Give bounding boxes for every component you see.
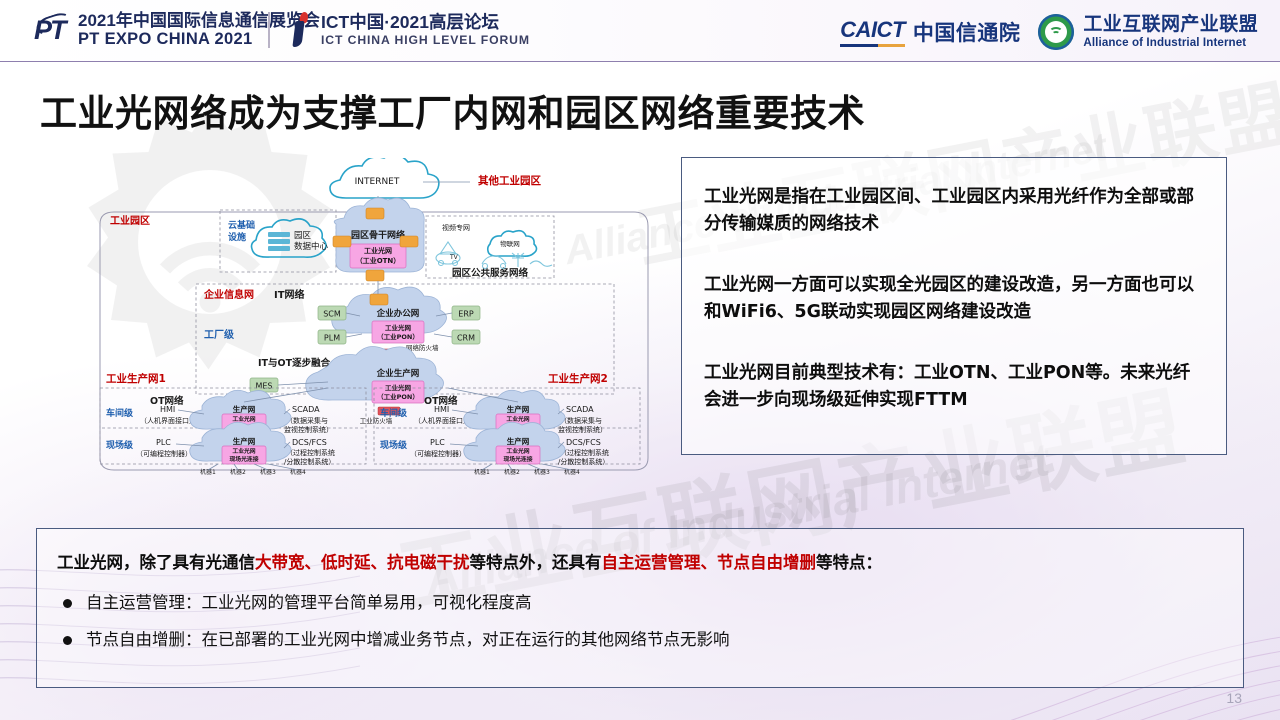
expo-title-cn: 2021年中国国际信息通信展览会 [78, 11, 320, 30]
svg-text:SCADA: SCADA [566, 405, 594, 414]
aii-logo-block: 工业互联网产业联盟 Alliance of Industrial Interne… [1036, 12, 1258, 52]
header-right-logos: CAICT 中国信通院 工业互联网产业联盟 Alliance of Indust… [840, 12, 1258, 52]
svg-text:SCM: SCM [323, 310, 341, 319]
enterprise-info-net-label: 企业信息网 [203, 288, 254, 301]
svg-text:HMI: HMI [160, 405, 175, 414]
industrial-optical-network-diagram: .cl { fill:#c3d3ec; stroke:#9db4d6; stro… [78, 158, 658, 480]
features-lead-line: 工业光网，除了具有光通信大带宽、低时延、抗电磁干扰等特点外，还具有自主运营管理、… [57, 551, 1217, 575]
svg-text:CRM: CRM [457, 334, 475, 343]
feature-item-text: 自主运营管理：工业光网的管理平台简单易用，可视化程度高 [86, 591, 532, 615]
svg-text:机器3: 机器3 [260, 468, 276, 476]
definition-box: 工业光网是指在工业园区间、工业园区内采用光纤作为全部或部分传输媒质的网络技术 工… [681, 157, 1227, 455]
page-number: 13 [1226, 690, 1242, 706]
svg-text:生产网: 生产网 [233, 404, 256, 414]
svg-text:MES: MES [255, 382, 272, 391]
feature-item-text: 节点自由增删：在已部署的工业光网中增减业务节点，对正在运行的其他网络节点无影响 [86, 628, 730, 652]
page-title: 工业光网络成为支撑工厂内网和园区网络重要技术 [40, 83, 865, 137]
svg-text:（可编程控制器）: （可编程控制器） [410, 449, 466, 458]
caict-name-cn: 中国信通院 [913, 17, 1021, 47]
svg-text:工业光网: 工业光网 [385, 323, 412, 332]
svg-text:机器3: 机器3 [534, 468, 550, 476]
svg-text:PLC: PLC [430, 438, 445, 447]
caict-logo-block: CAICT 中国信通院 [840, 17, 1020, 47]
svg-text:（工业PON）: （工业PON） [377, 392, 419, 401]
svg-text:现场光连接: 现场光连接 [504, 455, 533, 463]
aii-name-en: Alliance of Industrial Internet [1083, 35, 1258, 50]
bullet-icon [63, 599, 72, 608]
aii-gear-wifi-icon [1036, 12, 1076, 52]
lead-highlight-2: 自主运营管理、节点自由增删 [602, 553, 817, 572]
svg-text:（可编程控制器）: （可编程控制器） [136, 449, 192, 458]
svg-text:PLC: PLC [156, 438, 171, 447]
svg-text:机器2: 机器2 [504, 468, 520, 476]
svg-text:/分散控制系统）: /分散控制系统） [284, 457, 335, 466]
svg-text:HMI: HMI [434, 405, 449, 414]
features-box: 工业光网，除了具有光通信大带宽、低时延、抗电磁干扰等特点外，还具有自主运营管理、… [36, 528, 1244, 688]
svg-text:（数据采集与: （数据采集与 [560, 416, 602, 425]
svg-text:监视控制系统）: 监视控制系统） [558, 425, 607, 434]
svg-text:数据中心: 数据中心 [294, 241, 329, 252]
aii-name-cn: 工业互联网产业联盟 [1083, 14, 1258, 35]
it-ot-fusion-label: IT与OT逐步融合 [258, 357, 331, 369]
feature-item: 节点自由增删：在已部署的工业光网中增减业务节点，对正在运行的其他网络节点无影响 [57, 628, 1217, 652]
svg-text:ERP: ERP [458, 310, 474, 319]
svg-text:工业光网: 工业光网 [385, 383, 412, 392]
caict-mark-text: CAICT [840, 17, 905, 42]
svg-text:工业光网: 工业光网 [364, 246, 392, 255]
bullet-icon [63, 636, 72, 645]
svg-text:车间级: 车间级 [380, 407, 408, 419]
definition-para-2: 工业光网一方面可以实现全光园区的建设改造，另一方面也可以和WiFi6、5G联动实… [704, 272, 1204, 326]
industrial-park-label: 工业园区 [110, 214, 150, 227]
svg-text:PLM: PLM [324, 334, 340, 343]
svg-text:工业光网: 工业光网 [506, 415, 529, 423]
svg-text:/分散控制系统）: /分散控制系统） [558, 457, 609, 466]
forum-title-en: ICT CHINA HIGH LEVEL FORUM [321, 32, 530, 49]
pt-expo-logo-icon: PT [34, 12, 74, 48]
svg-text:车间级: 车间级 [106, 407, 134, 419]
park-public-service-label: 园区公共服务网络 [452, 267, 529, 279]
lead-part-2: 等特点外，还具有 [470, 553, 602, 572]
svg-text:机器1: 机器1 [474, 468, 490, 476]
svg-text:现场级: 现场级 [106, 439, 134, 451]
svg-text:（工业OTN）: （工业OTN） [356, 256, 401, 265]
feature-item: 自主运营管理：工业光网的管理平台简单易用，可视化程度高 [57, 591, 1217, 615]
svg-text:工业光网: 工业光网 [232, 447, 255, 455]
svg-text:（数据采集与: （数据采集与 [286, 416, 328, 425]
svg-text:TV: TV [449, 254, 459, 261]
svg-text:园区骨干网络: 园区骨干网络 [351, 229, 405, 241]
svg-text:生产网: 生产网 [507, 404, 530, 414]
it-network-label: IT网络 [274, 288, 305, 301]
internet-cloud: INTERNET [330, 158, 439, 198]
svg-text:机器1: 机器1 [200, 468, 216, 476]
iot-cloud: 物联网 [488, 231, 537, 257]
forum-title-cn: ICT中国·2021高层论坛 [321, 12, 530, 32]
other-park-label: 其他工业园区 [478, 174, 541, 187]
svg-text:园区: 园区 [294, 231, 312, 241]
svg-text:企业生产网: 企业生产网 [376, 368, 420, 379]
enterprise-production-net-cloud: 企业生产网 工业光网 （工业PON） [306, 346, 444, 403]
production-net-1-label: 工业生产网1 [106, 372, 166, 385]
lead-part-3: 等特点： [816, 553, 882, 572]
svg-text:机器2: 机器2 [230, 468, 246, 476]
svg-text:生产网: 生产网 [233, 436, 256, 446]
factory-level-label: 工厂级 [204, 328, 235, 341]
svg-text:企业办公网: 企业办公网 [376, 308, 420, 319]
svg-text:（工业PON）: （工业PON） [377, 332, 419, 341]
svg-text:监视控制系统）: 监视控制系统） [284, 425, 333, 434]
svg-text:DCS/FCS: DCS/FCS [566, 438, 601, 447]
svg-text:DCS/FCS: DCS/FCS [292, 438, 327, 447]
ict-forum-logo-icon [288, 11, 314, 49]
svg-text:现场光连接: 现场光连接 [230, 455, 259, 463]
svg-text:物联网: 物联网 [500, 239, 520, 248]
svg-text:（人机界面接口）: （人机界面接口） [414, 416, 470, 425]
svg-text:云基础: 云基础 [228, 219, 255, 231]
svg-text:视频专网: 视频专网 [442, 223, 470, 232]
svg-text:（过程控制系统: （过程控制系统 [286, 448, 335, 457]
svg-text:（过程控制系统: （过程控制系统 [560, 448, 609, 457]
park-datacenter-cloud: 园区 数据中心 [252, 219, 329, 257]
header-divider [268, 12, 270, 48]
svg-text:生产网: 生产网 [507, 436, 530, 446]
svg-text:SCADA: SCADA [292, 405, 320, 414]
definition-para-1: 工业光网是指在工业园区间、工业园区内采用光纤作为全部或部分传输媒质的网络技术 [704, 184, 1204, 238]
expo-title-en: PT EXPO CHINA 2021 [78, 30, 320, 49]
caict-wordmark-icon: CAICT [840, 17, 905, 47]
prod2-machines: 机器1机器2 机器3机器4 [474, 468, 580, 476]
svg-text:（人机界面接口）: （人机界面接口） [140, 416, 196, 425]
svg-text:INTERNET: INTERNET [355, 177, 400, 187]
svg-text:工业光网: 工业光网 [232, 415, 255, 423]
svg-text:设施: 设施 [228, 231, 246, 243]
definition-para-3: 工业光网目前典型技术有：工业OTN、工业PON等。未来光纤会进一步向现场级延伸实… [704, 360, 1204, 414]
prod1-machines: 机器1机器2 机器3机器4 [200, 468, 306, 476]
slide-header: PT 2021年中国国际信息通信展览会 PT EXPO CHINA 2021 I… [0, 0, 1280, 62]
svg-text:工业光网: 工业光网 [506, 447, 529, 455]
lead-part-1: 工业光网，除了具有光通信 [57, 553, 255, 572]
production-net-2-label: 工业生产网2 [548, 372, 608, 385]
pt-expo-logo-block: PT 2021年中国国际信息通信展览会 PT EXPO CHINA 2021 [34, 11, 320, 49]
lead-highlight-1: 大带宽、低时延、抗电磁干扰 [255, 553, 470, 572]
office-net-cloud: 企业办公网 工业光网 （工业PON） [332, 287, 447, 343]
svg-text:现场级: 现场级 [380, 439, 408, 451]
ict-forum-logo-block: ICT中国·2021高层论坛 ICT CHINA HIGH LEVEL FORU… [288, 11, 530, 49]
